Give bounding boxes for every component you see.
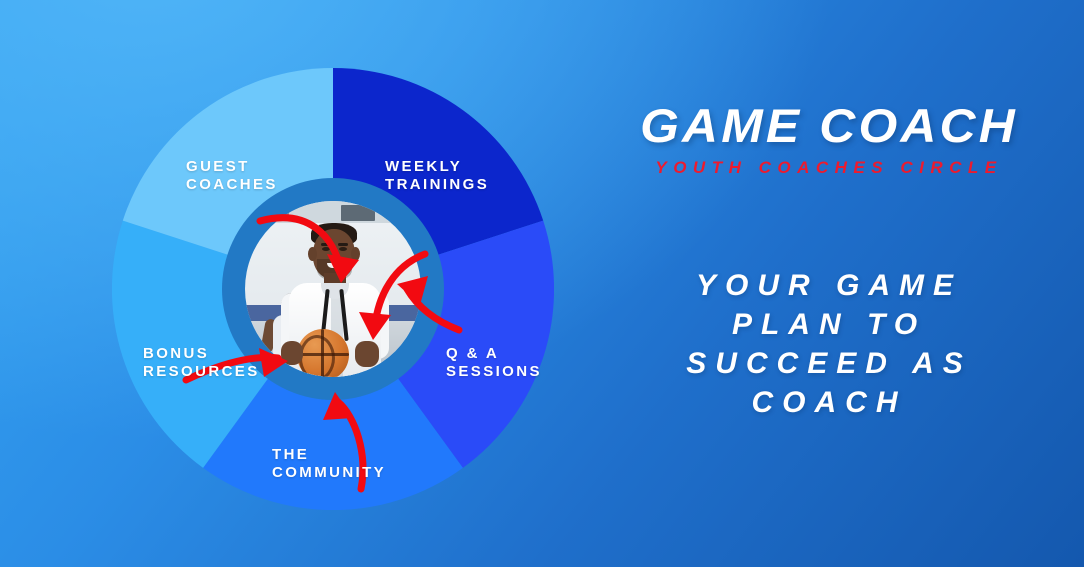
poster-canvas: WEEKLY TRAININGS Q & A SESSIONS THE COMM… <box>0 0 1084 567</box>
slice-label-bonus-resources: BONUS RESOURCES <box>143 345 260 381</box>
brand-panel: GAME COACH YOUTH COACHES CIRCLE YOUR GAM… <box>574 0 1084 567</box>
slice-label-weekly-trainings: WEEKLY TRAININGS <box>385 158 489 194</box>
slice-label-qa-sessions: Q & A SESSIONS <box>446 345 542 381</box>
slice-label-guest-coaches: GUEST COACHES <box>186 158 278 194</box>
center-photo <box>245 201 421 377</box>
coaching-circle-chart <box>112 68 554 510</box>
brand-subtitle: YOUTH COACHES CIRCLE <box>574 158 1084 178</box>
slice-label-the-community: THE COMMUNITY <box>272 446 386 482</box>
brand-title: GAME COACH <box>559 98 1084 153</box>
tagline-text: YOUR GAME PLAN TO SUCCEED AS COACH <box>574 266 1084 422</box>
